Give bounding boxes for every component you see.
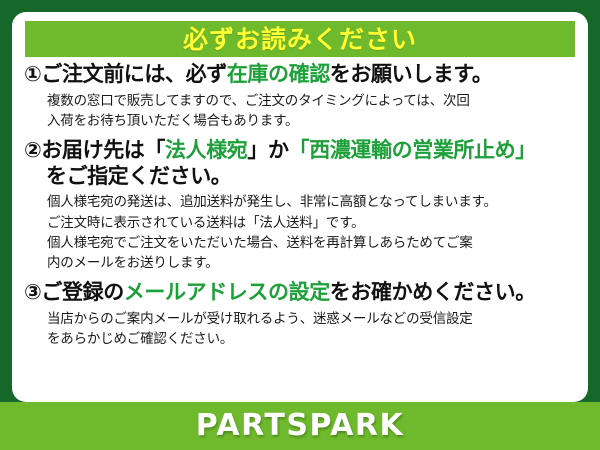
item-3-sub-line-2: をあらかじめご確認ください。 bbox=[24, 329, 578, 349]
item-3-heading-highlight: メールアドレスの設定 bbox=[124, 280, 330, 304]
item-2-heading-line2: をご指定ください。 bbox=[24, 164, 578, 190]
notice-item-2: ②お届け先は「法人様宛」か「西濃運輸の営業所止め」 をご指定ください。 個人様宅… bbox=[24, 138, 578, 273]
notice-item-1: ①ご注文前には、必ず在庫の確認をお願いします。 複数の窓口で販売してますので、ご… bbox=[24, 62, 578, 131]
item-3-heading-pre: ご登録の bbox=[41, 280, 123, 304]
item-2-quote-close: 」 bbox=[247, 138, 268, 162]
item-2-heading-mid: か bbox=[268, 138, 289, 162]
item-2-sub-line-1: 個人様宅宛の発送は、追加送料が発生し、非常に高額となってしまいます。 bbox=[24, 192, 578, 212]
item-2-sub-line-2: ご注文時に表示されている送料は「法人送料」です。 bbox=[24, 213, 578, 233]
notice-item-3: ③ご登録のメールアドレスの設定をお確かめください。 当店からのご案内メールが受け… bbox=[24, 280, 578, 349]
item-3-marker: ③ bbox=[24, 280, 41, 304]
item-2-marker: ② bbox=[24, 138, 41, 162]
item-2-heading-highlight-2: 「西濃運輸の営業所止め」 bbox=[289, 138, 536, 162]
header-banner: 必ずお読みください bbox=[25, 21, 575, 57]
item-2-sub-line-3: 個人様宅宛でご注文をいただいた場合、送料を再計算しあらためてご案 bbox=[24, 233, 578, 253]
item-1-sub-line-1: 複数の窓口で販売してますので、ご注文のタイミングによっては、次回 bbox=[24, 91, 578, 111]
item-1-marker: ① bbox=[24, 62, 41, 86]
item-1-heading-highlight: 在庫の確認 bbox=[227, 62, 330, 86]
item-1-heading-post: をお願いします。 bbox=[330, 62, 493, 86]
notice-frame: 必ずお読みください ①ご注文前には、必ず在庫の確認をお願いします。 複数の窓口で… bbox=[0, 0, 600, 450]
brand-logo: PARTSPARK bbox=[196, 411, 405, 441]
footer-bar: PARTSPARK bbox=[0, 402, 600, 450]
item-1-heading: ①ご注文前には、必ず在庫の確認をお願いします。 bbox=[24, 62, 578, 88]
item-1-sub-line-2: 入荷をお待ち頂いただく場合もあります。 bbox=[24, 111, 578, 131]
item-2-heading-highlight: 法人様宛 bbox=[165, 138, 247, 162]
item-2-heading: ②お届け先は「法人様宛」か「西濃運輸の営業所止め」 bbox=[24, 138, 578, 164]
item-2-sub-line-4: 内のメールをお送りします。 bbox=[24, 253, 578, 273]
item-2-heading-pre: お届け先は bbox=[41, 138, 144, 162]
item-3-sub-line-1: 当店からのご案内メールが受け取れるよう、迷惑メールなどの受信設定 bbox=[24, 309, 578, 329]
notice-body: ①ご注文前には、必ず在庫の確認をお願いします。 複数の窓口で販売してますので、ご… bbox=[12, 62, 588, 349]
item-1-heading-pre: ご注文前には、必ず bbox=[41, 62, 226, 86]
notice-card: 必ずお読みください ①ご注文前には、必ず在庫の確認をお願いします。 複数の窓口で… bbox=[12, 12, 588, 402]
item-3-heading: ③ご登録のメールアドレスの設定をお確かめください。 bbox=[24, 280, 578, 306]
page-title: 必ずお読みください bbox=[183, 27, 417, 52]
item-3-heading-post: をお確かめください。 bbox=[330, 280, 536, 304]
item-2-quote-open: 「 bbox=[144, 138, 165, 162]
